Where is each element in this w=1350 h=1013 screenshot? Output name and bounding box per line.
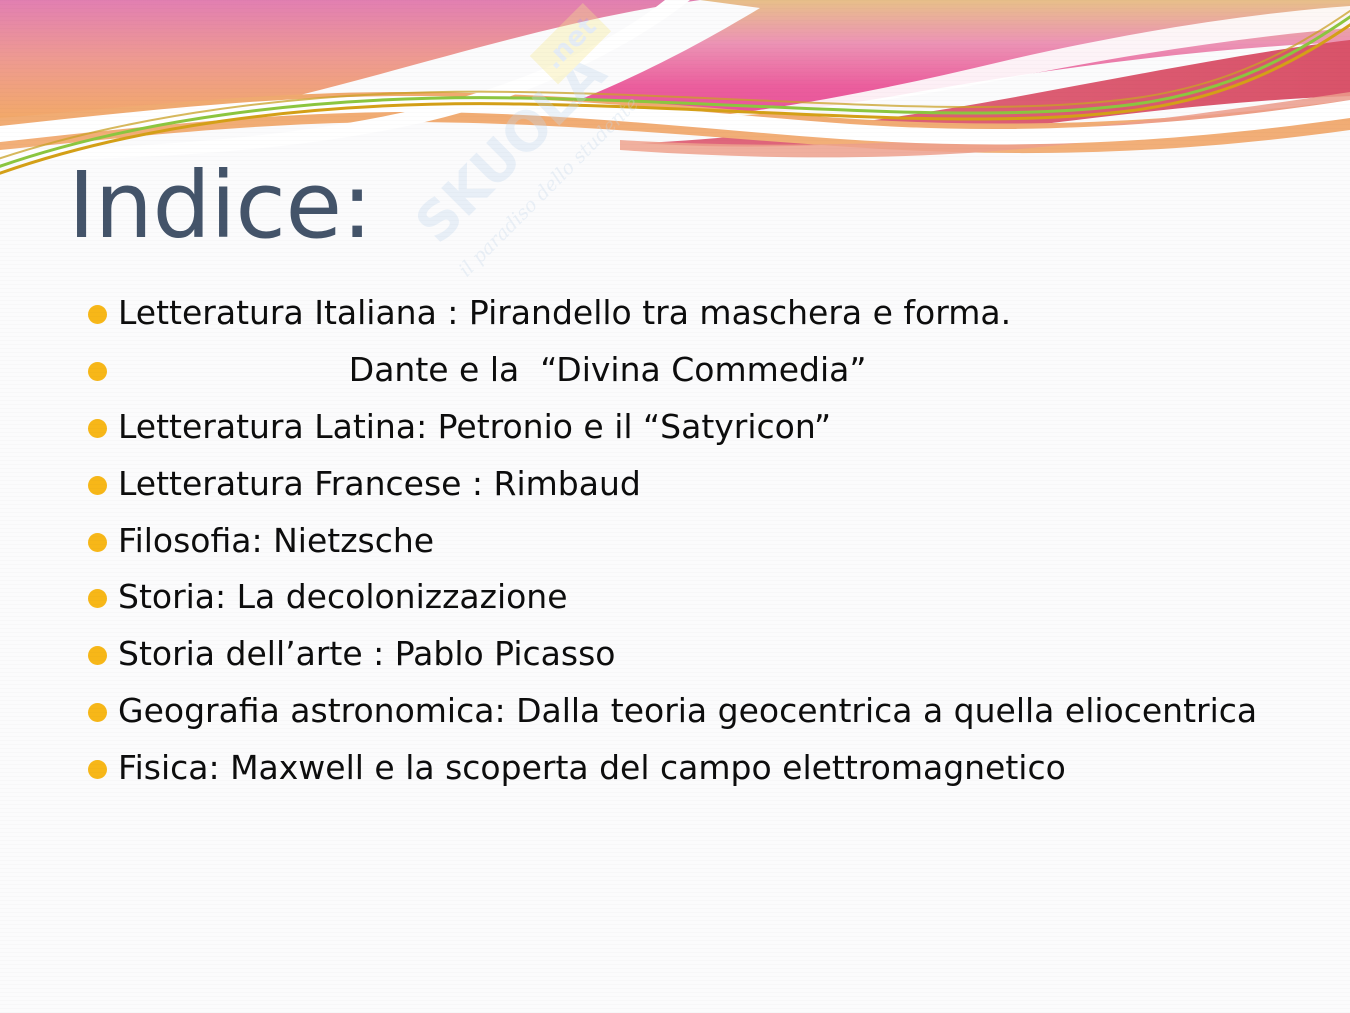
- decorative-wave-banner: [0, 0, 1350, 175]
- list-item: Filosofia: Nietzsche: [80, 520, 1310, 563]
- presentation-slide: SKUOLA .net il paradiso dello studente I…: [0, 0, 1350, 1013]
- agenda-bullet-list: Letteratura Italiana : Pirandello tra ma…: [80, 292, 1310, 804]
- list-item: Letteratura Francese : Rimbaud: [80, 463, 1310, 506]
- slide-title: Indice:: [68, 160, 372, 252]
- list-item: Geografia astronomica: Dalla teoria geoc…: [80, 690, 1310, 733]
- list-item: Storia dell’arte : Pablo Picasso: [80, 633, 1310, 676]
- list-item: Storia: La decolonizzazione: [80, 576, 1310, 619]
- list-item: Letteratura Italiana : Pirandello tra ma…: [80, 292, 1310, 335]
- list-item: Dante e la “Divina Commedia”: [80, 349, 1310, 392]
- list-item: Fisica: Maxwell e la scoperta del campo …: [80, 747, 1310, 790]
- list-item: Letteratura Latina: Petronio e il “Satyr…: [80, 406, 1310, 449]
